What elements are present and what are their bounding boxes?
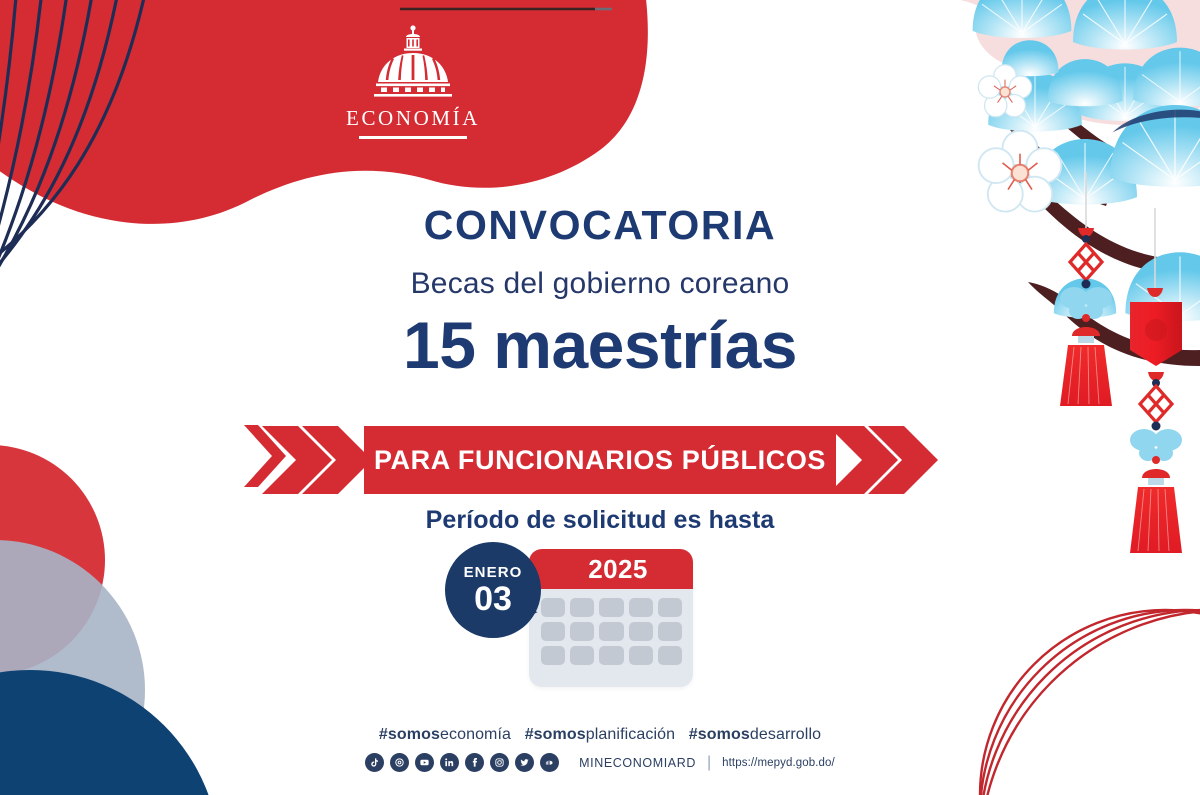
economia-logo: ECONOMÍA — [333, 22, 493, 139]
calendar-day-cell — [541, 598, 565, 617]
footer: #somoseconomía #somosplanificación #somo… — [0, 726, 1200, 772]
calendar-day-cell — [570, 646, 594, 665]
poster: ECONOMÍA CONVOCATORIA Becas del gobierno… — [0, 0, 1200, 795]
facebook-icon[interactable] — [465, 753, 484, 772]
social-handle: MINECONOMIARD — [579, 756, 696, 770]
calendar-day-cell — [629, 646, 653, 665]
calendar-day-cell — [658, 622, 682, 641]
hashtag-desarrollo: #somosdesarrollo — [689, 726, 821, 743]
calendar-day-cell — [658, 646, 682, 665]
deadline-date-bubble: ENERO 03 — [445, 542, 541, 638]
audience-banner: PARA FUNCIONARIOS PÚBLICOS — [254, 418, 946, 502]
calendar-day-cell — [658, 598, 682, 617]
calendar-day-cell — [599, 646, 623, 665]
calendar-day-cell — [570, 622, 594, 641]
youtube-icon[interactable] — [415, 753, 434, 772]
hashtag-planificacion: #somosplanificación — [525, 726, 675, 743]
tiktok-icon[interactable] — [365, 753, 384, 772]
subtitle: Becas del gobierno coreano — [0, 267, 1200, 301]
linkedin-icon[interactable] — [440, 753, 459, 772]
deadline-month: ENERO — [464, 565, 523, 580]
calendar-header: 2025 — [529, 549, 693, 589]
calendar-day-cell — [541, 646, 565, 665]
deadline-day: 03 — [474, 582, 512, 616]
banner-label: PARA FUNCIONARIOS PÚBLICOS — [254, 418, 946, 502]
hashtag-economia: #somoseconomía — [379, 726, 511, 743]
twitter-icon[interactable] — [515, 753, 534, 772]
period-label: Período de solicitud es hasta — [0, 506, 1200, 535]
headline: 15 maestrías — [0, 307, 1200, 383]
national-palace-dome-icon — [365, 22, 461, 100]
social-links: MINECONOMIARD | https://mepyd.gob.do/ — [0, 753, 1200, 772]
soundcloud-icon[interactable] — [540, 753, 559, 772]
calendar-day-cell — [599, 622, 623, 641]
calendar-card: 2025 — [529, 549, 693, 687]
logo-underline — [359, 136, 467, 139]
website-url[interactable]: https://mepyd.gob.do/ — [722, 757, 835, 769]
hashtag-line: #somoseconomía #somosplanificación #somo… — [0, 726, 1200, 744]
calendar-day-cell — [629, 598, 653, 617]
heading-group: CONVOCATORIA Becas del gobierno coreano … — [0, 204, 1200, 383]
calendar-grid — [529, 589, 693, 665]
calendar-day-cell — [599, 598, 623, 617]
threads-icon[interactable] — [390, 753, 409, 772]
footer-separator: | — [707, 754, 711, 772]
logo-wordmark: ECONOMÍA — [333, 106, 493, 131]
calendar-year: 2025 — [574, 554, 647, 585]
instagram-icon[interactable] — [490, 753, 509, 772]
calendar-day-cell — [541, 622, 565, 641]
eyebrow-title: CONVOCATORIA — [0, 204, 1200, 247]
calendar-day-cell — [570, 598, 594, 617]
deadline-calendar: 2025 — [445, 542, 705, 690]
calendar-day-cell — [629, 622, 653, 641]
